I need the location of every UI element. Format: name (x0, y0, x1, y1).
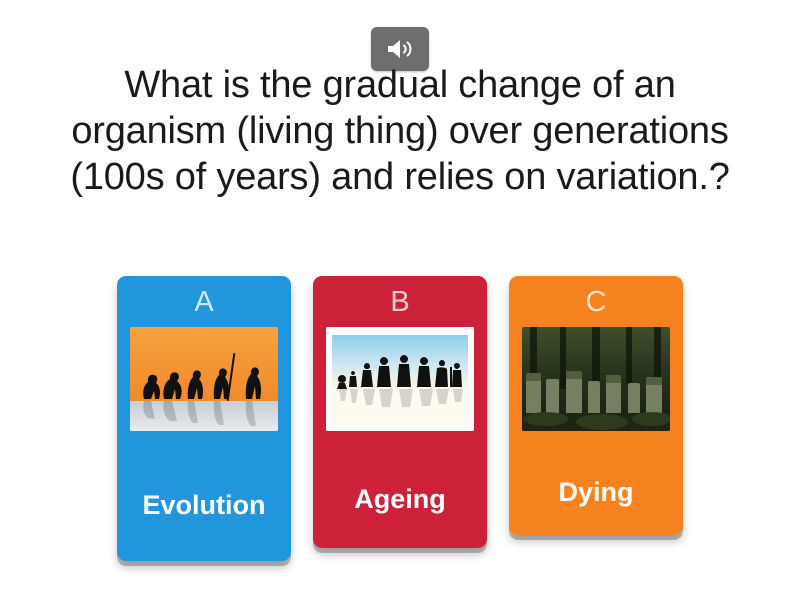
answer-options: A (0, 276, 800, 566)
answer-option-b[interactable]: B (313, 276, 487, 548)
answer-label-c: Dying (509, 476, 683, 508)
answer-letter-a: A (194, 285, 213, 319)
answer-letter-c: C (586, 285, 607, 319)
answer-option-a[interactable]: A (117, 276, 291, 561)
answer-option-c[interactable]: C (509, 276, 683, 535)
question-text: What is the gradual change of an organis… (60, 62, 740, 200)
answer-image-c (522, 327, 670, 431)
answer-image-b (326, 327, 474, 431)
answer-label-a: Evolution (117, 489, 291, 521)
answer-letter-b: B (390, 285, 409, 319)
quiz-screen: What is the gradual change of an organis… (0, 0, 800, 600)
answer-label-b: Ageing (313, 483, 487, 515)
speaker-icon (385, 37, 415, 61)
answer-image-a (130, 327, 278, 431)
